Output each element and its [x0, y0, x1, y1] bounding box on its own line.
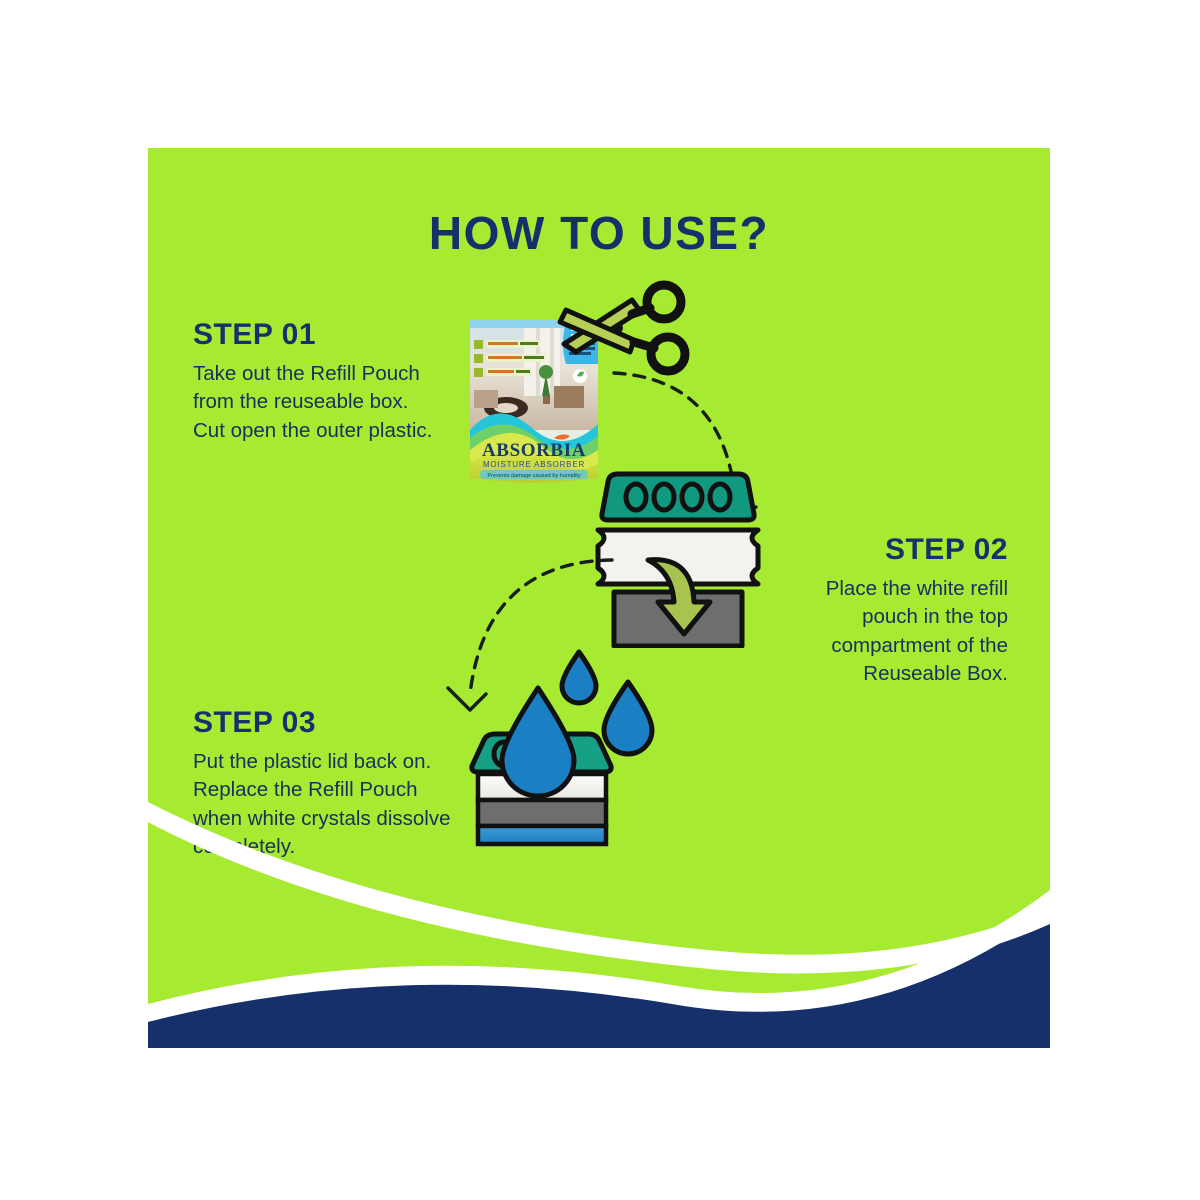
step-01-body: Take out the Refill Pouch from the reuse…: [193, 360, 493, 445]
page-title: HOW TO USE?: [148, 206, 1050, 260]
package-subtitle: MOISTURE ABSORBER: [483, 460, 585, 469]
step-01-text-block: STEP 01 Take out the Refill Pouch from t…: [193, 318, 493, 445]
package-brand: ABSORBIA: [482, 440, 586, 461]
bottom-wave-decoration: [148, 798, 1050, 1048]
step-01-heading: STEP 01: [193, 318, 493, 352]
green-panel: HOW TO USE? STEP 01 Take out the Refill …: [148, 148, 1050, 1048]
infographic-canvas: HOW TO USE? STEP 01 Take out the Refill …: [0, 0, 1200, 1200]
package-tagline: Prevents damage caused by humidity: [487, 473, 580, 479]
teal-lid-with-holes: [602, 474, 754, 520]
